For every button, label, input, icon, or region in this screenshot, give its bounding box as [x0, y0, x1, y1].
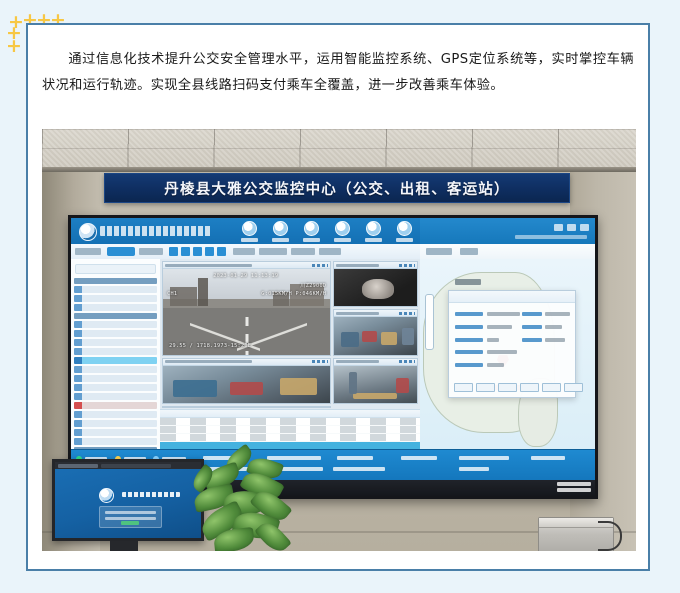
plus-icon: + [6, 37, 22, 56]
toolbar-dropdown-2[interactable] [259, 248, 287, 255]
browser-tab[interactable] [58, 464, 98, 468]
layout-9-icon[interactable] [205, 247, 214, 256]
tree-item[interactable] [74, 438, 157, 445]
layout-4-icon[interactable] [181, 247, 190, 256]
platform-title [100, 226, 212, 236]
toolbar-active-tab[interactable] [107, 247, 135, 256]
tree-item[interactable] [74, 348, 157, 355]
map-zoom-slider[interactable] [425, 294, 434, 350]
video-cell-dashcam-front[interactable]: CH1 2023-01-29 11:13:19 川Z2900D G:015KM/… [162, 261, 331, 356]
desk-monitor [52, 459, 204, 541]
popup-dispatch-button[interactable] [498, 383, 517, 392]
username-field[interactable] [105, 511, 157, 514]
toolbar-dropdown-3[interactable] [291, 248, 315, 255]
control-room-photo: 丹棱县大雅公交监控中心（公交、出租、客运站） [42, 129, 636, 551]
plus-icon: + [6, 24, 22, 43]
platform-logo-icon [79, 223, 97, 241]
bus-interior-view [163, 365, 330, 403]
vehicle-info-popup[interactable] [448, 290, 576, 398]
vehicle-tree[interactable] [71, 259, 161, 450]
ceiling-edge [42, 167, 636, 172]
vehicle-icon [304, 221, 319, 236]
popup-listen-button[interactable] [542, 383, 561, 392]
taskbar-clock [557, 482, 591, 494]
layout-6-icon[interactable] [193, 247, 202, 256]
osd-speed: G:015KM/H P:046KM/H [261, 291, 326, 297]
tree-item[interactable] [74, 321, 157, 328]
maximize-icon[interactable] [567, 224, 576, 231]
minimize-icon[interactable] [554, 224, 563, 231]
toolbar-tab-2[interactable] [139, 248, 163, 255]
platform-title [122, 492, 180, 497]
video-cell-titlebar [334, 359, 417, 366]
tree-item[interactable] [74, 295, 157, 302]
osd-timestamp: 2023-01-29 11:13:19 [213, 273, 278, 279]
gps-map-panel[interactable] [420, 259, 595, 480]
video-cell-rear-view-camera[interactable] [162, 406, 331, 408]
desktop-login-screen[interactable] [55, 462, 201, 538]
room-banner: 丹棱县大雅公交监控中心（公交、出租、客运站） [104, 173, 570, 203]
popup-header [449, 291, 575, 303]
video-cell-titlebar [163, 359, 330, 366]
window-controls[interactable] [554, 224, 589, 231]
driver-view [334, 268, 417, 306]
osd-plate: 川Z2900D [300, 282, 326, 289]
tree-item-alert[interactable] [74, 402, 157, 409]
detail-total-mileage [459, 456, 509, 460]
nav-item-admin[interactable] [394, 221, 416, 242]
chart-icon [366, 221, 381, 236]
platform-nav [239, 221, 416, 242]
map-region-label [455, 279, 481, 285]
video-cell-bus-door-camera[interactable] [333, 358, 418, 404]
toolbar-dropdown-1[interactable] [233, 248, 255, 255]
vehicle-search-input[interactable] [75, 264, 156, 274]
tree-item[interactable] [74, 393, 157, 400]
video-cell-titlebar [163, 407, 330, 408]
tree-item[interactable] [74, 304, 157, 311]
tree-item[interactable] [74, 286, 157, 293]
article-content-box: 通过信息化技术提升公交安全管理水平，运用智能监控系统、GPS定位系统等，实时掌控… [26, 23, 650, 571]
tree-item[interactable] [74, 411, 157, 418]
plus-icon: + [8, 13, 24, 32]
table-row[interactable] [160, 418, 420, 426]
clock-date [557, 488, 591, 492]
detail-trip-mileage [401, 456, 437, 460]
detail-speed [337, 456, 373, 460]
table-header [160, 410, 420, 418]
osd-channel: CH1 [167, 291, 177, 297]
report-icon [335, 221, 350, 236]
map-type-dropdown[interactable] [426, 248, 452, 255]
toolbar-filter[interactable] [75, 248, 101, 255]
detail-alarm-state [459, 467, 489, 471]
detail-vehicle-state [333, 467, 385, 471]
layout-1-icon[interactable] [169, 247, 178, 256]
tree-item[interactable] [74, 429, 157, 436]
popup-action-buttons[interactable] [454, 383, 583, 392]
login-card[interactable] [99, 506, 162, 528]
close-icon[interactable] [580, 224, 589, 231]
alarm-table[interactable] [160, 409, 420, 450]
bus-door-view [334, 365, 417, 403]
layout-16-icon[interactable] [217, 247, 226, 256]
potted-plant [190, 451, 306, 551]
tree-item[interactable] [74, 420, 157, 427]
monitor-icon [273, 221, 288, 236]
browser-tabbar[interactable] [55, 462, 201, 469]
address-bar[interactable] [101, 464, 171, 468]
settings-icon [397, 221, 412, 236]
login-submit-button[interactable] [121, 521, 139, 525]
popup-replay-button[interactable] [476, 383, 495, 392]
monitor-stand [110, 541, 138, 551]
nav-item-analysis[interactable] [363, 221, 385, 242]
tree-item-selected[interactable] [74, 357, 157, 364]
video-cell-titlebar [334, 262, 417, 269]
popup-detail-button[interactable] [564, 383, 583, 392]
article-paragraph: 通过信息化技术提升公交安全管理水平，运用智能监控系统、GPS定位系统等，实时掌控… [28, 25, 648, 100]
map-header-text [515, 235, 587, 239]
tree-item[interactable] [74, 375, 157, 382]
ceiling-grid [42, 129, 636, 169]
platform-header [71, 218, 420, 244]
popup-track-button[interactable] [454, 383, 473, 392]
platform-toolbar[interactable] [71, 244, 420, 260]
popup-photo-button[interactable] [520, 383, 539, 392]
tree-item[interactable] [74, 330, 157, 337]
nav-item-safety[interactable] [332, 221, 354, 242]
table-row[interactable] [160, 426, 420, 434]
room-banner-text: 丹棱县大雅公交监控中心（公交、出租、客运站） [164, 178, 509, 199]
video-grid: CH1 2023-01-29 11:13:19 川Z2900D G:015KM/… [160, 259, 420, 410]
password-field[interactable] [105, 517, 157, 520]
video-cell-bus-interior-mid[interactable] [162, 358, 331, 404]
map-window-header [420, 218, 595, 244]
map-region-dropdown[interactable] [460, 248, 478, 255]
video-wall: CH1 2023-01-29 11:13:19 川Z2900D G:015KM/… [68, 215, 598, 499]
detail-driving-state [531, 456, 565, 460]
toolbar-dropdown-4[interactable] [319, 248, 341, 255]
nav-item-vehicle[interactable] [301, 221, 323, 242]
tree-item[interactable] [74, 384, 157, 391]
video-cell-titlebar [334, 310, 417, 317]
video-cell-titlebar [163, 262, 330, 269]
ceiling-tiles [42, 129, 636, 169]
nav-item-video[interactable] [270, 221, 292, 242]
bus-interior-view [334, 316, 417, 354]
osd-footer: 29.55 / 1718.1973-15:20E [169, 343, 251, 349]
video-cell-driver-monitor[interactable] [333, 261, 418, 307]
tree-group-header[interactable] [74, 313, 157, 319]
video-cell-bus-interior-front[interactable] [333, 309, 418, 355]
table-row[interactable] [160, 434, 420, 442]
home-icon [242, 221, 257, 236]
tree-item[interactable] [74, 366, 157, 373]
tree-item[interactable] [74, 339, 157, 346]
tree-group-header[interactable] [74, 278, 157, 284]
platform-logo-icon [99, 488, 114, 503]
nav-item-home[interactable] [239, 221, 261, 242]
map-toolbar[interactable] [420, 244, 595, 260]
clock-time [557, 482, 591, 486]
